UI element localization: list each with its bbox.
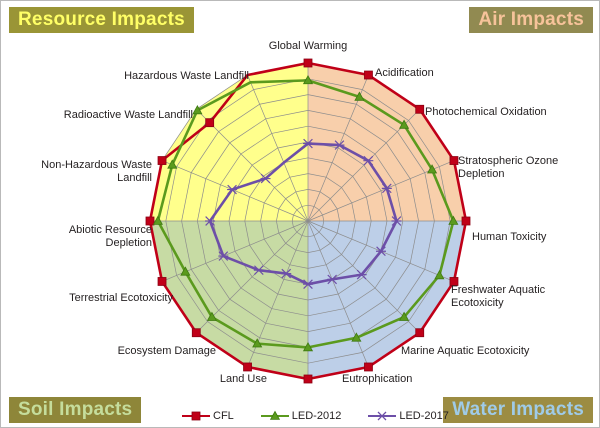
legend-item-led-2017[interactable]: LED-2017 — [367, 410, 449, 422]
axis-label-abiotic-resource-depletion: Abiotic Resource — [69, 224, 152, 236]
axis-label-stratospheric-ozone-depletion: Depletion — [458, 168, 504, 180]
axis-label-non-hazardous-waste-landfill: Non-Hazardous Waste — [41, 159, 152, 171]
marker-square — [364, 363, 372, 371]
marker-square — [416, 105, 424, 113]
axis-label-marine-aquatic-ecotoxicity: Marine Aquatic Ecotoxicity — [401, 345, 530, 357]
axis-label-acidification: Acidification — [375, 67, 434, 79]
marker-square — [304, 375, 312, 383]
chart-legend: CFLLED-2012LED-2017 — [181, 410, 449, 422]
axis-label-non-hazardous-waste-landfill: Landfill — [117, 172, 152, 184]
axis-label-abiotic-resource-depletion: Depletion — [106, 237, 152, 249]
marker-square — [158, 157, 166, 165]
marker-square — [462, 217, 470, 225]
axis-label-radioactive-waste-landfill: Radioactive Waste Landfill — [64, 109, 193, 121]
legend-item-led-2012[interactable]: LED-2012 — [260, 410, 342, 422]
axis-label-hazardous-waste-landfill: Hazardous Waste Landfill — [124, 70, 249, 82]
axis-label-eutrophication: Eutrophication — [342, 373, 412, 385]
marker-square — [416, 329, 424, 337]
marker-square — [158, 277, 166, 285]
legend-item-cfl[interactable]: CFL — [181, 410, 234, 422]
axis-label-photochemical-oxidation: Photochemical Oxidation — [425, 106, 547, 118]
legend-marker-triangle-icon — [260, 410, 290, 422]
radar-plot: Global WarmingAcidificationPhotochemical… — [1, 1, 600, 428]
marker-square — [304, 59, 312, 67]
marker-square — [364, 71, 372, 79]
axis-label-terrestrial-ecotoxicity: Terrestrial Ecotoxicity — [69, 292, 173, 304]
legend-label: LED-2012 — [291, 410, 342, 422]
legend-marker-square-icon — [181, 410, 211, 422]
legend-label: CFL — [212, 410, 234, 422]
axis-label-human-toxicity: Human Toxicity — [472, 231, 547, 243]
axis-label-stratospheric-ozone-depletion: Stratospheric Ozone — [458, 155, 558, 167]
axis-label-freshwater-aquatic-ecotoxicity: Freshwater Aquatic — [451, 284, 546, 296]
legend-marker-star-icon — [367, 410, 397, 422]
legend-label: LED-2017 — [398, 410, 449, 422]
axis-label-global-warming: Global Warming — [269, 40, 347, 52]
axis-label-land-use: Land Use — [220, 373, 267, 385]
marker-square — [450, 157, 458, 165]
axis-label-ecosystem-damage: Ecosystem Damage — [118, 345, 216, 357]
marker-square — [206, 119, 214, 127]
radar-chart-figure: Resource Impacts Air Impacts Soil Impact… — [0, 0, 600, 428]
marker-square — [244, 363, 252, 371]
axis-label-freshwater-aquatic-ecotoxicity: Ecotoxicity — [451, 297, 504, 309]
marker-square — [192, 329, 200, 337]
